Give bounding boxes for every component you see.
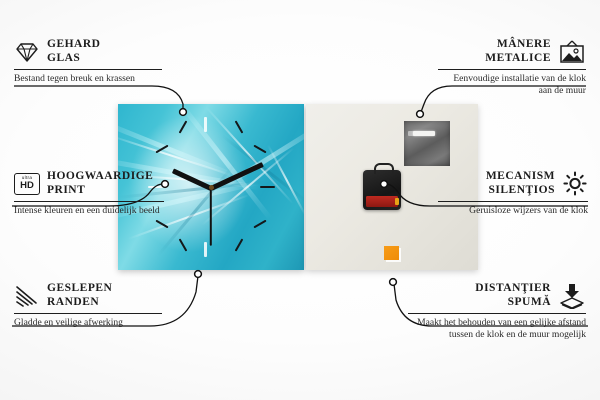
divider	[438, 201, 588, 202]
feature-geslepen-randen: GESLEPEN RANDEN Gladde en veilige afwerk…	[14, 282, 162, 329]
diamond-icon	[14, 41, 40, 63]
infographic-canvas: GEHARD GLAS Bestand tegen breuk en krass…	[0, 0, 600, 400]
feature-distantier-spuma: DISTANŢIER SPUMĂ Maakt het behouden van …	[408, 282, 586, 340]
feature-title-line: PRINT	[47, 184, 153, 198]
feature-hoogwaardige-print: ultra HD HOOGWAARDIGE PRINT Intense kleu…	[14, 170, 164, 217]
feature-title-line: MÂNERE	[485, 38, 551, 52]
feature-manere-metalice: MÂNERE METALICE Eenvoudige installatie v…	[438, 38, 586, 96]
feature-title: GESLEPEN RANDEN	[47, 282, 112, 309]
feature-title: MÂNERE METALICE	[485, 38, 551, 65]
feature-title: HOOGWAARDIGE PRINT	[47, 170, 153, 197]
divider	[438, 69, 586, 70]
feature-title: GEHARD GLAS	[47, 38, 100, 65]
feature-title: DISTANŢIER SPUMĂ	[475, 282, 551, 309]
feature-mecanism-silentios: MECANISM SILENŢIOS Geruisloze wijzers va…	[438, 170, 588, 217]
feature-title-line: GESLEPEN	[47, 282, 112, 296]
feature-title-line: SILENŢIOS	[486, 184, 555, 198]
feature-title-line: RANDEN	[47, 296, 112, 310]
feature-description: Gladde en veilige afwerking	[14, 317, 162, 329]
metal-hanger-plate	[404, 121, 450, 166]
feature-description: Bestand tegen breuk en krassen	[14, 73, 162, 85]
feature-description: Geruisloze wijzers van de klok	[438, 205, 588, 217]
diagonal-lines-icon	[14, 285, 40, 307]
battery	[366, 196, 398, 207]
divider	[14, 69, 162, 70]
clock-second-hand	[210, 188, 212, 246]
feature-title-line: METALICE	[485, 52, 551, 66]
product-image	[118, 104, 478, 276]
divider	[14, 201, 164, 202]
silent-clock-mechanism	[363, 170, 401, 210]
gear-icon	[562, 171, 588, 196]
connector-node	[390, 279, 397, 286]
feature-title-line: GLAS	[47, 52, 100, 66]
spacer-arrow-icon	[558, 283, 586, 309]
feature-description: Intense kleuren en een duidelijk beeld	[14, 205, 164, 217]
foam-spacer	[384, 246, 399, 260]
ultra-hd-main-text: HD	[20, 181, 34, 191]
feature-title-line: SPUMĂ	[475, 296, 551, 310]
ultra-hd-icon: ultra HD	[14, 173, 40, 195]
divider	[408, 313, 586, 314]
feature-title: MECANISM SILENŢIOS	[486, 170, 555, 197]
divider	[14, 313, 162, 314]
picture-frame-hanger-icon	[558, 40, 586, 64]
feature-title-line: HOOGWAARDIGE	[47, 170, 153, 184]
feature-title-line: MECANISM	[486, 170, 555, 184]
feature-title-line: DISTANŢIER	[475, 282, 551, 296]
feature-description: Maakt het behouden van een gelijke afsta…	[408, 317, 586, 340]
feature-gehard-glas: GEHARD GLAS Bestand tegen breuk en krass…	[14, 38, 162, 85]
feature-title-line: GEHARD	[47, 38, 100, 52]
feature-description: Eenvoudige installatie van de klok aan d…	[438, 73, 586, 96]
